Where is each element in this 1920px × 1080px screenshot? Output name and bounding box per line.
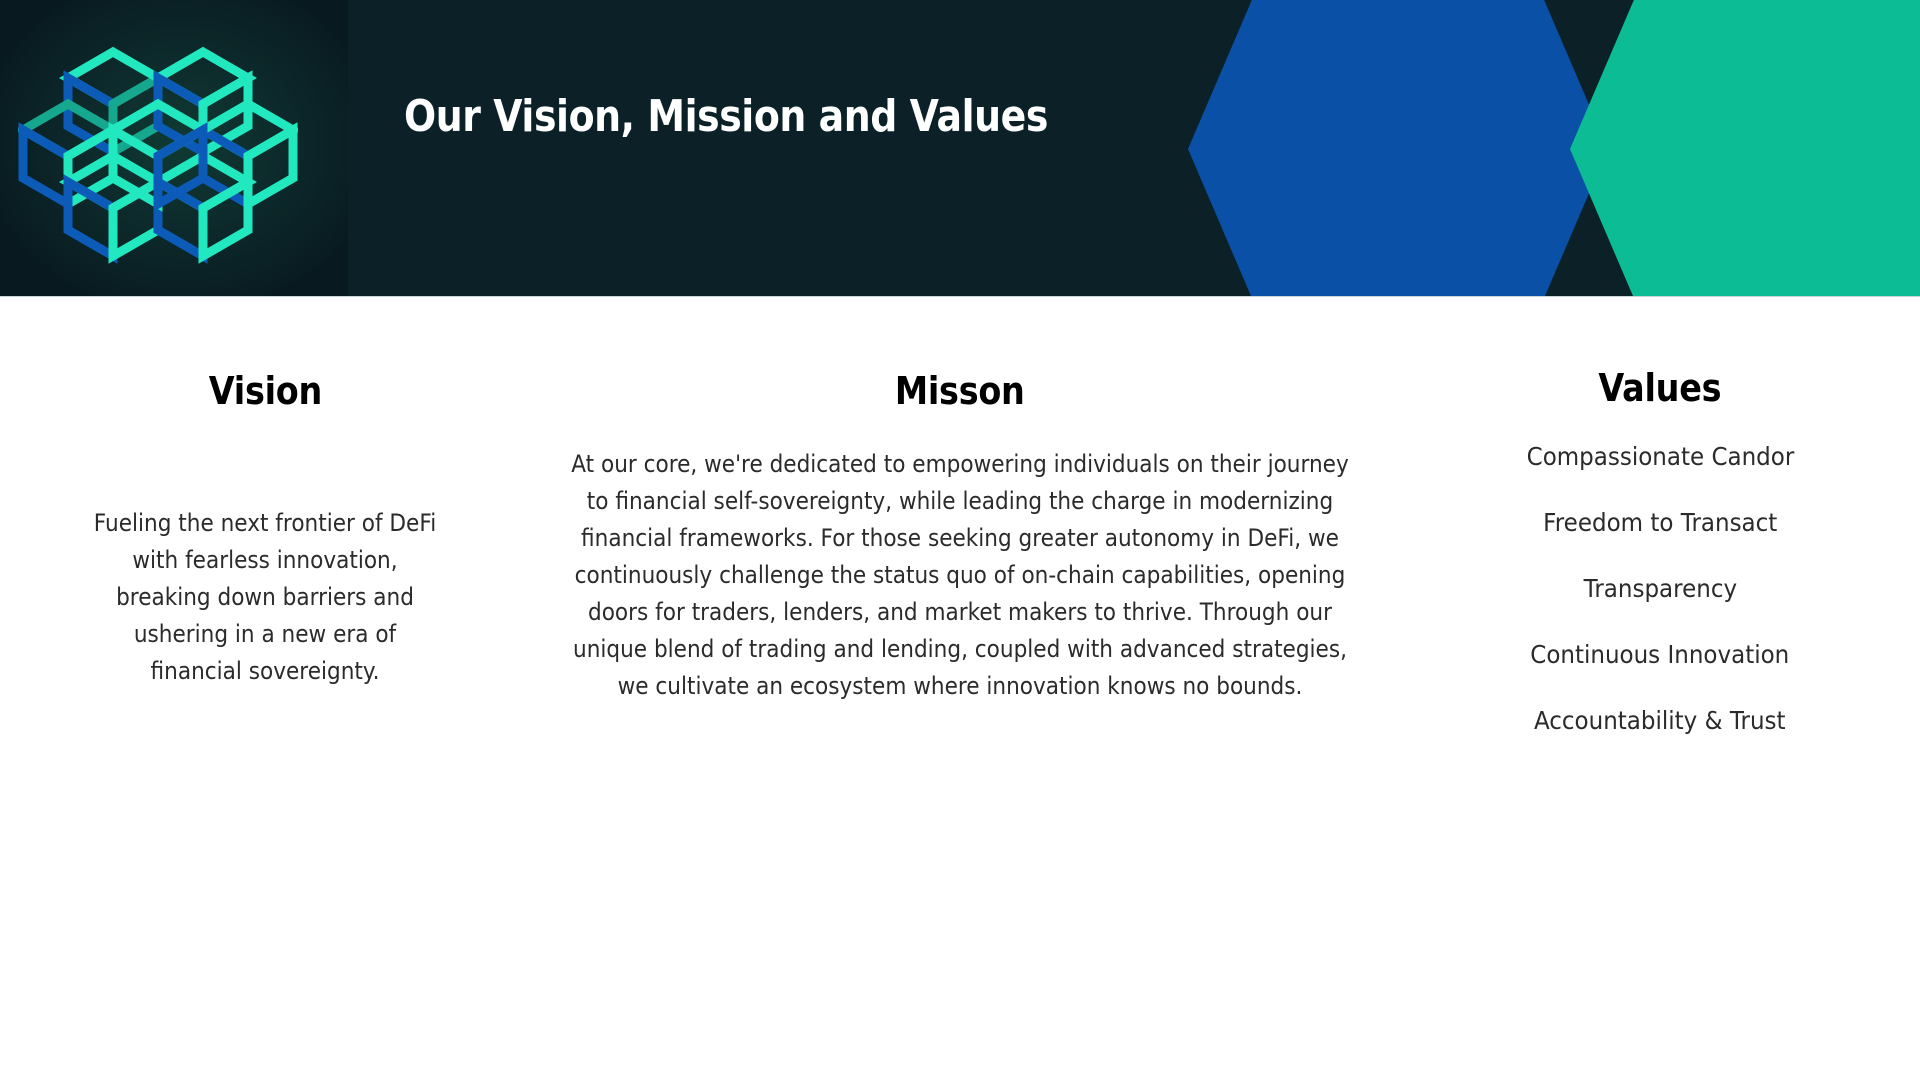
list-item: Continuous Innovation [1425,639,1895,671]
page-header: Our Vision, Mission and Values [0,0,1920,297]
mission-heading-text: Misson [895,368,1025,414]
values-column: Values Compassionate Candor Freedom to T… [1425,297,1895,771]
value-label: Accountability & Trust [1534,705,1786,737]
mission-body: At our core, we're dedicated to empoweri… [510,446,1410,705]
mission-column: Misson At our core, we're dedicated to e… [510,297,1410,705]
value-label: Continuous Innovation [1530,639,1789,671]
values-heading-text: Values [1599,365,1722,411]
values-list: Compassionate Candor Freedom to Transact… [1425,441,1895,737]
mission-body-text: At our core, we're dedicated to empoweri… [571,446,1349,705]
vision-body: Fueling the next frontier of DeFi with f… [30,505,500,690]
mission-heading: Misson [510,368,1410,414]
logo-tile [0,0,348,297]
value-label: Freedom to Transact [1543,507,1777,539]
interlocking-cubes-logo-icon [18,8,298,288]
vision-column: Vision Fueling the next frontier of DeFi… [30,297,500,690]
list-item: Compassionate Candor [1425,441,1895,473]
page-title: Our Vision, Mission and Values [404,88,1048,146]
list-item: Freedom to Transact [1425,507,1895,539]
value-label: Compassionate Candor [1526,441,1794,473]
decorative-hexagon-blue [1188,0,1608,297]
vision-heading: Vision [30,368,500,414]
list-item: Transparency [1425,573,1895,605]
values-heading: Values [1425,365,1895,411]
vision-heading-text: Vision [208,368,321,414]
list-item: Accountability & Trust [1425,705,1895,737]
decorative-hexagon-teal [1570,0,1920,297]
value-label: Transparency [1583,573,1736,605]
main-content: Vision Fueling the next frontier of DeFi… [0,297,1920,1080]
vision-body-text: Fueling the next frontier of DeFi with f… [86,505,444,690]
